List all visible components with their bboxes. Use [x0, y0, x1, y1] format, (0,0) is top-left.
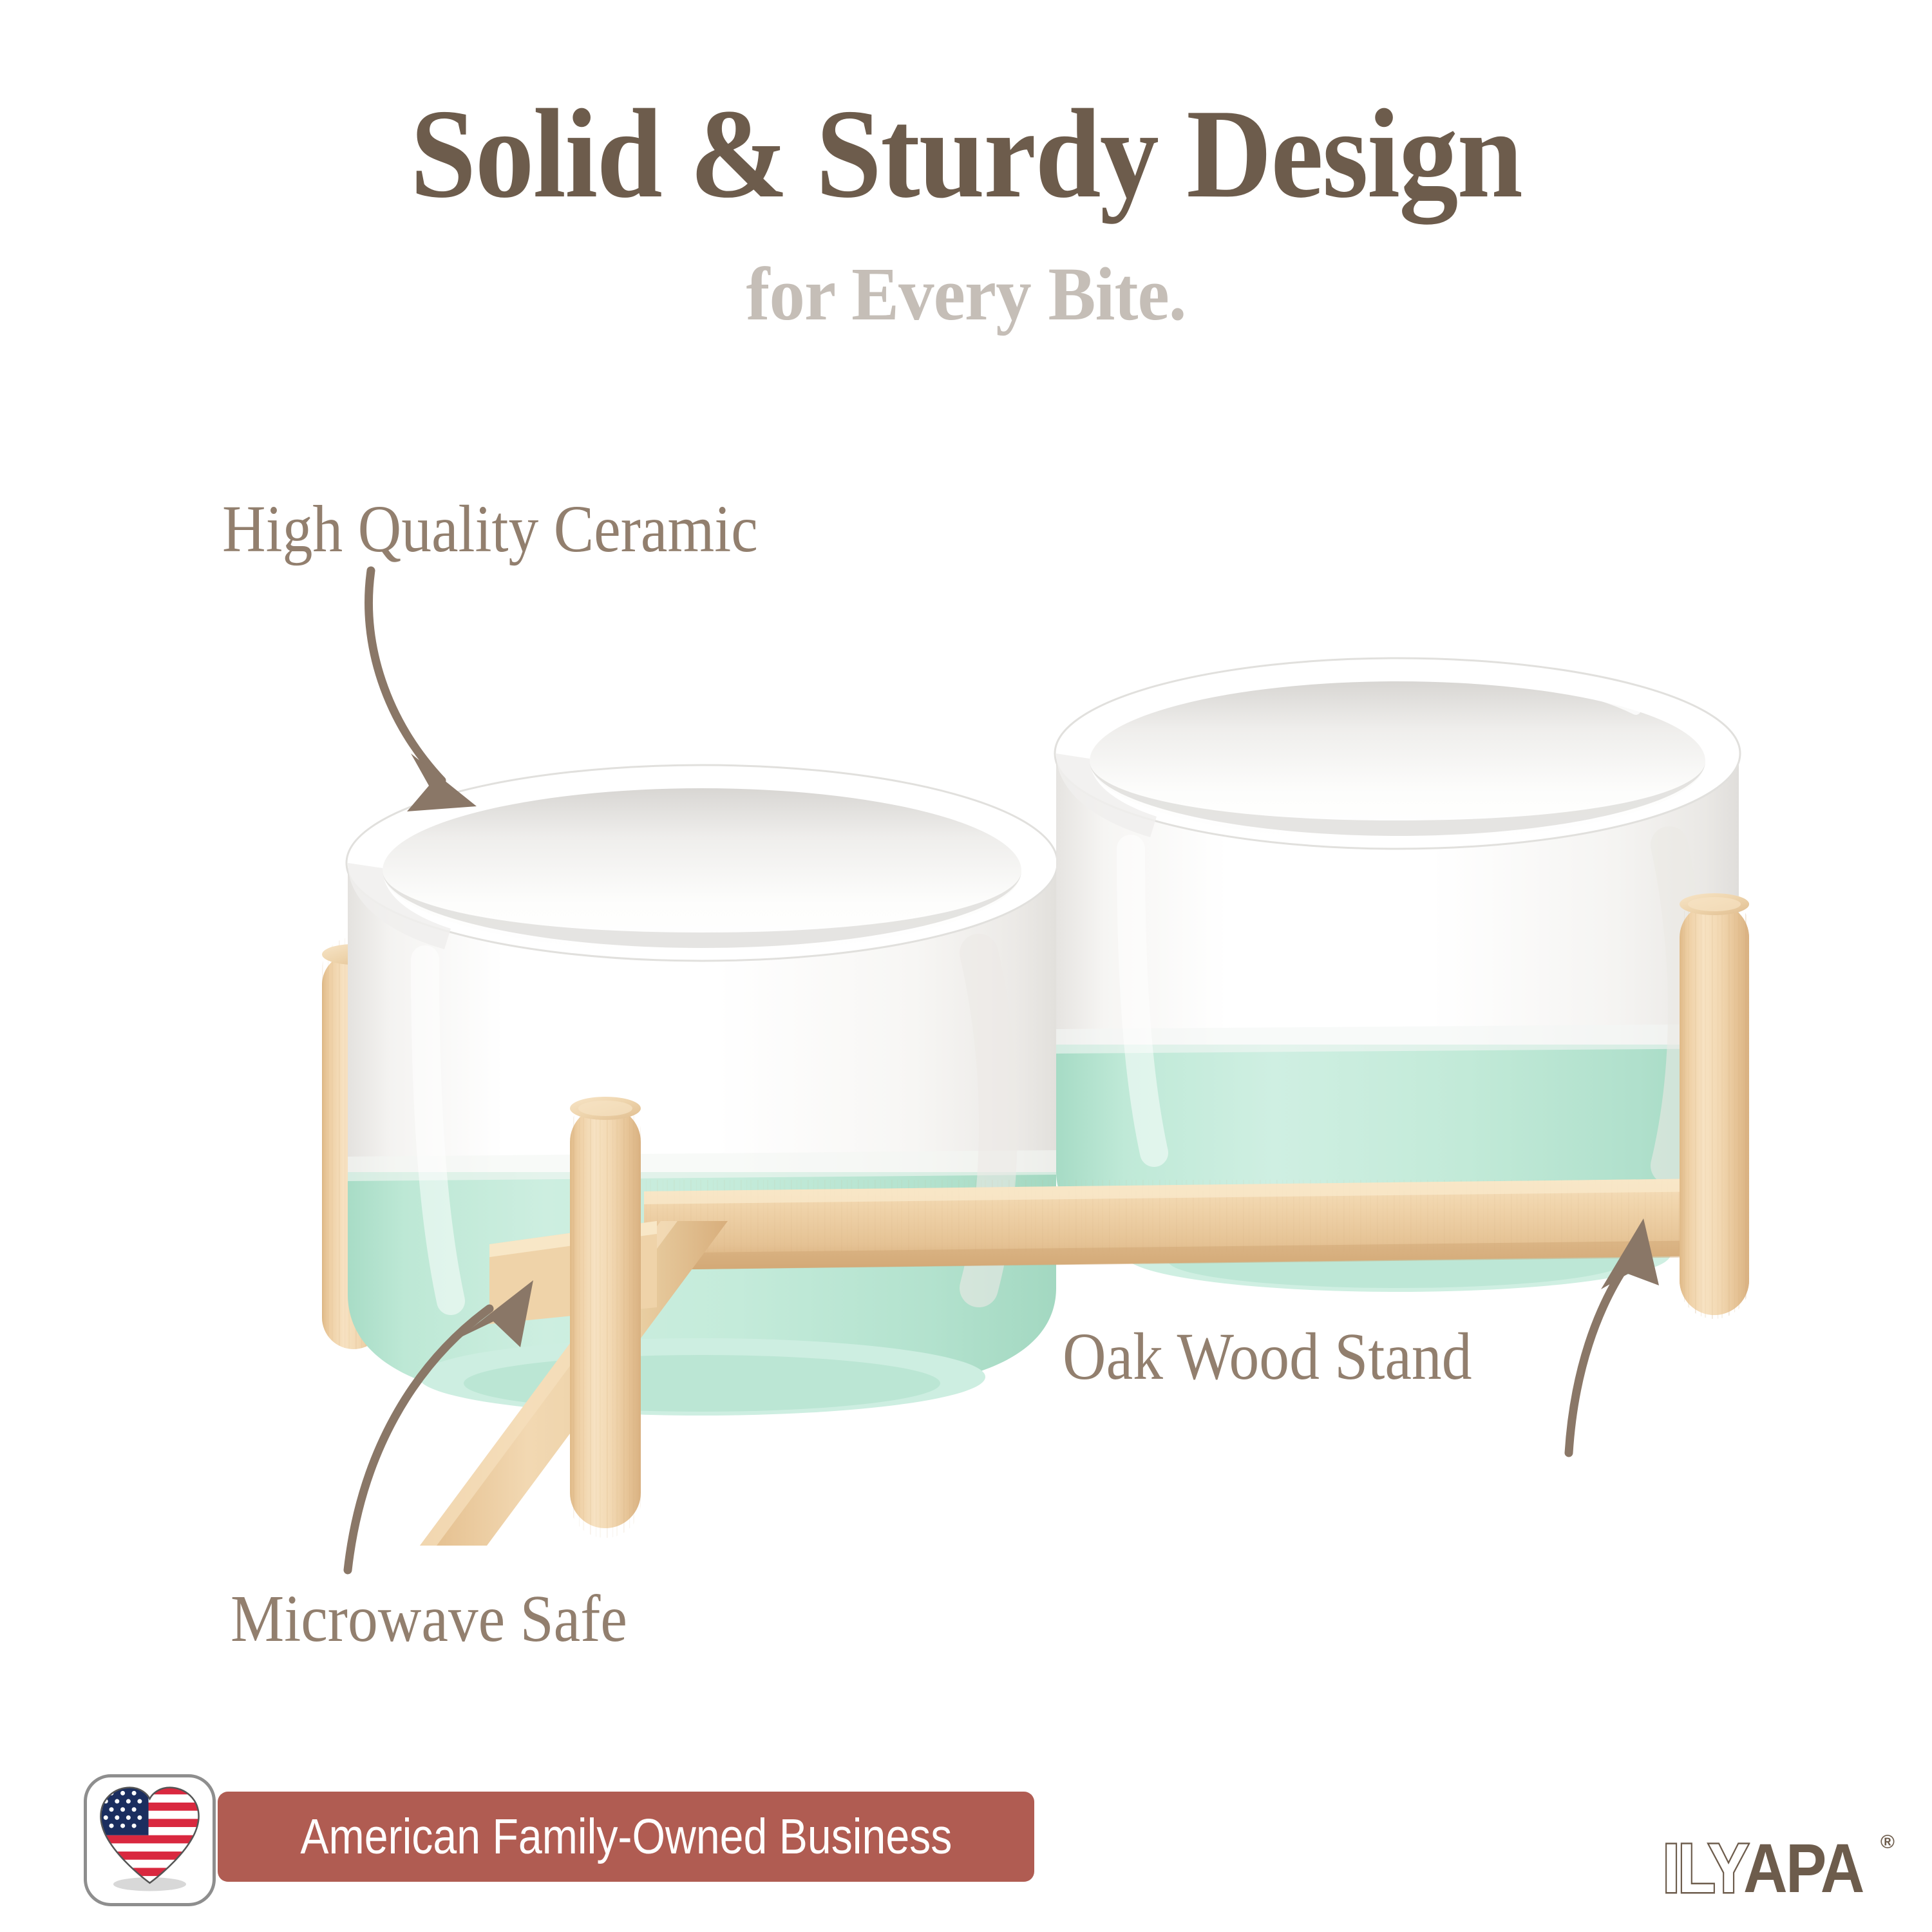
- usa-badge-card: [84, 1774, 216, 1906]
- logo-ily-text: ILY: [1663, 1828, 1747, 1908]
- stand-rail: [644, 1179, 1713, 1270]
- callout-label-microwave-safe: Microwave Safe: [231, 1586, 627, 1653]
- page-subtitle: for Every Bite.: [58, 256, 1874, 332]
- ceramic-bowl-left: [346, 765, 1057, 1416]
- family-owned-banner: American Family-Owned Business: [218, 1792, 1034, 1882]
- infographic-page: Solid & Sturdy Design for Every Bite.: [0, 0, 1932, 1932]
- ilyapa-logo: ILY APA ®: [1651, 1828, 1895, 1899]
- stand-leg-front-left: [570, 1097, 641, 1538]
- stand-leg-front-right: [1680, 893, 1749, 1319]
- logo-apa-text: APA: [1743, 1828, 1863, 1908]
- callout-label-oak-wood-stand: Oak Wood Stand: [1063, 1323, 1472, 1390]
- callout-label-high-quality-ceramic: High Quality Ceramic: [222, 496, 758, 563]
- product-image: [0, 451, 1932, 1707]
- arrow-to-ceramic: [369, 571, 477, 811]
- family-owned-banner-text: American Family-Owned Business: [300, 1808, 952, 1866]
- page-title: Solid & Sturdy Design: [68, 90, 1864, 218]
- registered-trademark-icon: ®: [1880, 1832, 1895, 1853]
- usa-flag-heart-icon: [87, 1777, 213, 1903]
